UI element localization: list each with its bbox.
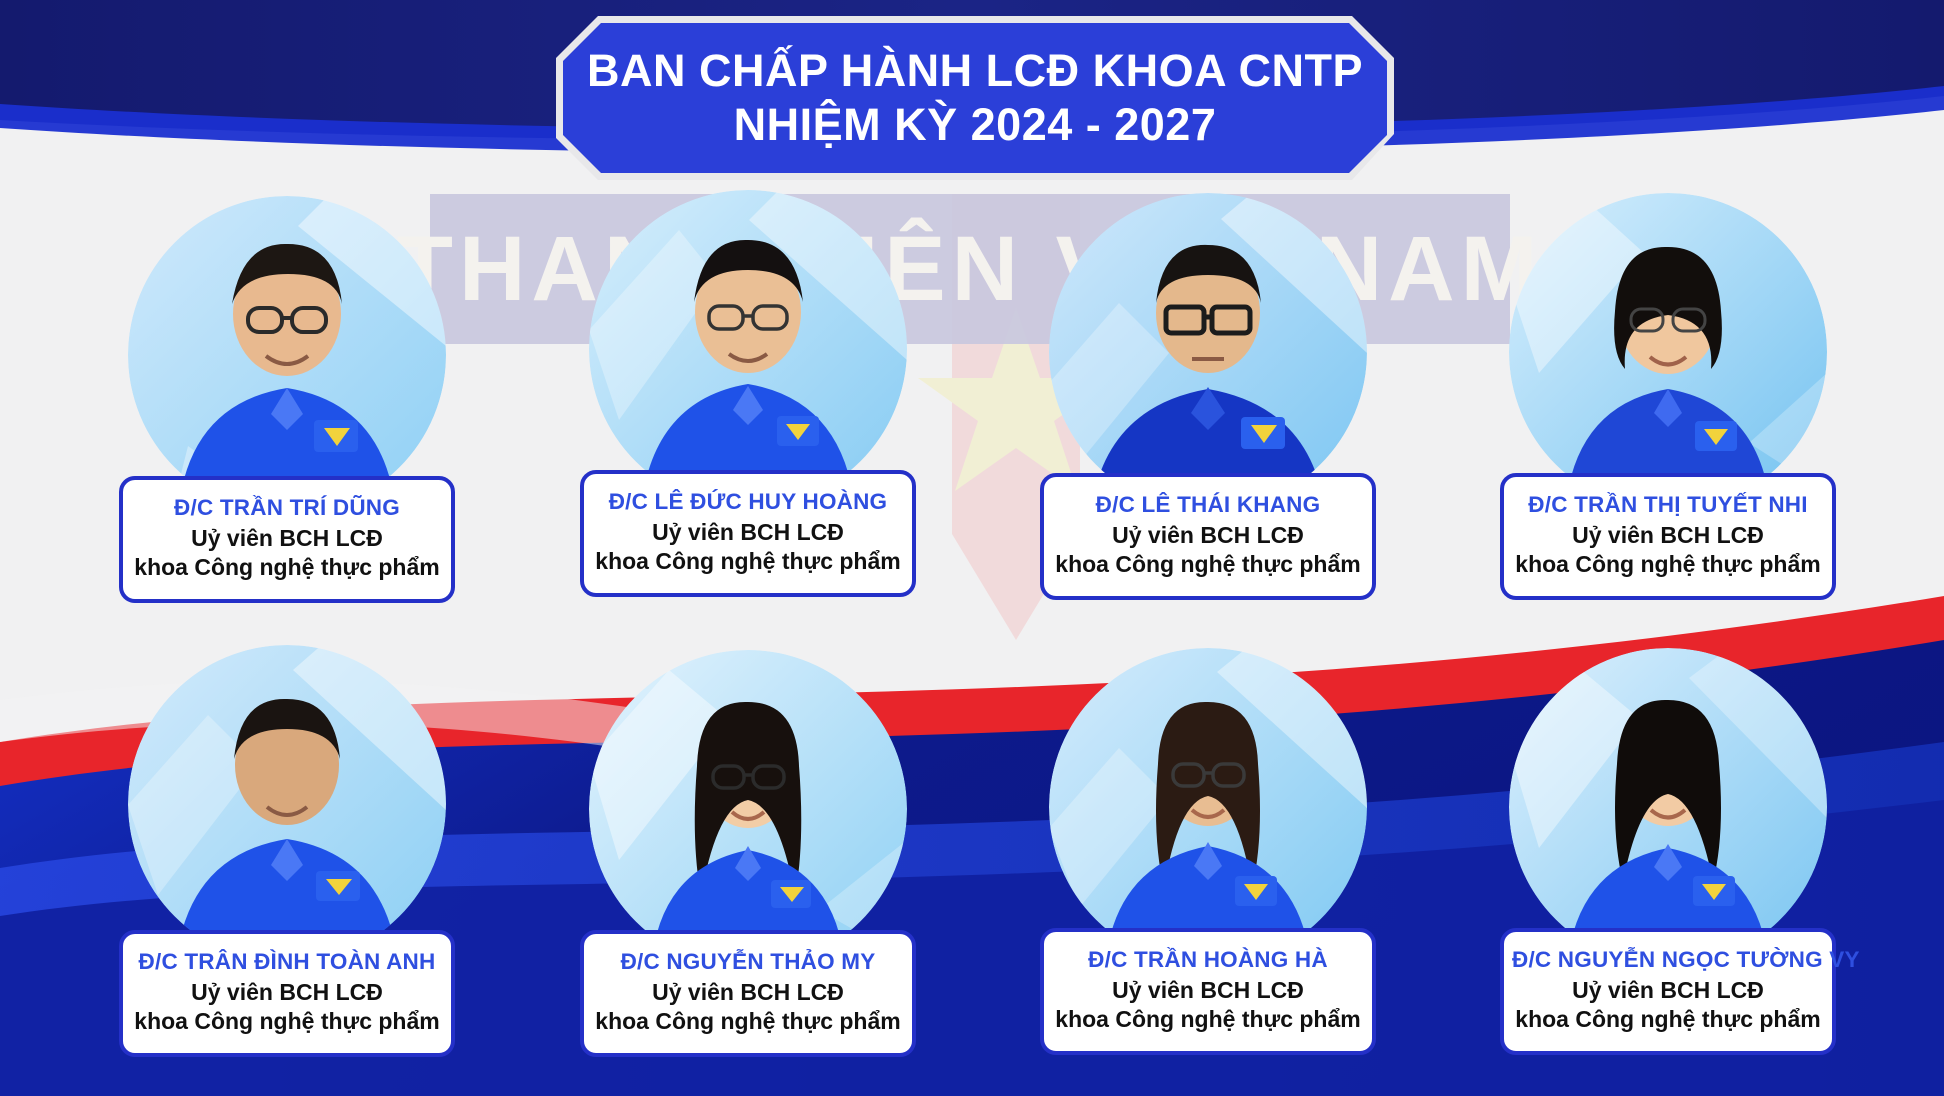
member-role: Uỷ viên BCH LCĐ <box>1512 976 1824 1005</box>
member-name: Đ/C TRẦN THỊ TUYẾT NHI <box>1512 491 1824 518</box>
member-photo <box>589 650 907 968</box>
member-department: khoa Công nghệ thực phẩm <box>1512 1005 1824 1034</box>
member-photo <box>589 190 907 508</box>
member-name: Đ/C TRẦN HOÀNG HÀ <box>1052 946 1364 973</box>
member-photo <box>128 645 446 963</box>
member-department: khoa Công nghệ thực phẩm <box>1052 550 1364 579</box>
member-photo <box>128 196 446 514</box>
member-role: Uỷ viên BCH LCĐ <box>1052 521 1364 550</box>
member-info-card: Đ/C TRẦN THỊ TUYẾT NHI Uỷ viên BCH LCĐ k… <box>1500 473 1836 600</box>
member-info-card: Đ/C LÊ ĐỨC HUY HOÀNG Uỷ viên BCH LCĐ kho… <box>580 470 916 597</box>
member-department: khoa Công nghệ thực phẩm <box>131 1007 443 1036</box>
member-role: Uỷ viên BCH LCĐ <box>592 978 904 1007</box>
member-role: Uỷ viên BCH LCĐ <box>1512 521 1824 550</box>
member-info-card: Đ/C TRÂN ĐÌNH TOÀN ANH Uỷ viên BCH LCĐ k… <box>119 930 455 1057</box>
member-role: Uỷ viên BCH LCĐ <box>131 978 443 1007</box>
member-department: khoa Công nghệ thực phẩm <box>592 1007 904 1036</box>
member-department: khoa Công nghệ thực phẩm <box>592 547 904 576</box>
member-role: Uỷ viên BCH LCĐ <box>592 518 904 547</box>
member-name: Đ/C NGUYỄN THẢO MY <box>592 948 904 975</box>
member-info-card: Đ/C NGUYỄN THẢO MY Uỷ viên BCH LCĐ khoa … <box>580 930 916 1057</box>
member-name: Đ/C LÊ ĐỨC HUY HOÀNG <box>592 488 904 515</box>
member-info-card: Đ/C TRẦN HOÀNG HÀ Uỷ viên BCH LCĐ khoa C… <box>1040 928 1376 1055</box>
member-photo <box>1049 648 1367 966</box>
member-role: Uỷ viên BCH LCĐ <box>131 524 443 553</box>
member-department: khoa Công nghệ thực phẩm <box>1052 1005 1364 1034</box>
poster-stage: THANH NIÊN VIỆT NAM BAN CHẤP HÀNH LCĐ KH… <box>0 0 1944 1096</box>
member-department: khoa Công nghệ thực phẩm <box>1512 550 1824 579</box>
member-info-card: Đ/C TRẦN TRÍ DŨNG Uỷ viên BCH LCĐ khoa C… <box>119 476 455 603</box>
member-photo <box>1509 193 1827 511</box>
member-photo <box>1049 193 1367 511</box>
member-grid: Đ/C TRẦN TRÍ DŨNG Uỷ viên BCH LCĐ khoa C… <box>0 0 1944 1096</box>
member-role: Uỷ viên BCH LCĐ <box>1052 976 1364 1005</box>
member-name: Đ/C TRẦN TRÍ DŨNG <box>131 494 443 521</box>
member-name: Đ/C NGUYỄN NGỌC TƯỜNG VY <box>1512 946 1824 973</box>
member-photo <box>1509 648 1827 966</box>
member-info-card: Đ/C NGUYỄN NGỌC TƯỜNG VY Uỷ viên BCH LCĐ… <box>1500 928 1836 1055</box>
member-department: khoa Công nghệ thực phẩm <box>131 553 443 582</box>
member-name: Đ/C LÊ THÁI KHANG <box>1052 491 1364 518</box>
member-info-card: Đ/C LÊ THÁI KHANG Uỷ viên BCH LCĐ khoa C… <box>1040 473 1376 600</box>
member-name: Đ/C TRÂN ĐÌNH TOÀN ANH <box>131 948 443 975</box>
